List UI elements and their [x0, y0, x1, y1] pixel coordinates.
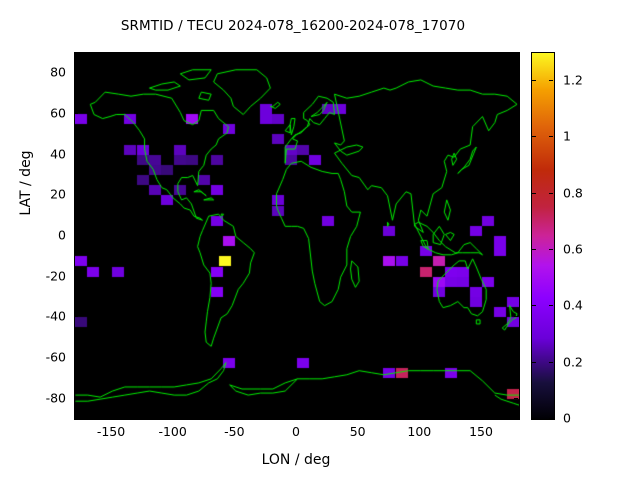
page-title: SRMTID / TECU 2024-078_16200-2024-078_17…: [0, 18, 586, 34]
y-tick-mark-right: [514, 154, 518, 155]
y-tick-mark: [74, 357, 78, 358]
x-tick-mark: [173, 414, 174, 418]
y-tick-mark: [74, 276, 78, 277]
colorbar-tick-mark-right: [549, 305, 553, 306]
x-tick-mark-top: [173, 52, 174, 56]
colorbar-tick-label: 0: [563, 411, 571, 426]
x-tick-mark-top: [111, 52, 112, 56]
colorbar-tick-mark-right: [549, 193, 553, 194]
y-tick-label: -40: [14, 309, 66, 324]
x-tick-label: 100: [407, 424, 431, 439]
y-tick-mark-right: [514, 357, 518, 358]
y-axis-label: LAT / deg: [18, 113, 34, 253]
colorbar-tick-mark: [532, 249, 536, 250]
y-tick-label: -80: [14, 390, 66, 405]
colorbar-tick-label: 0.4: [563, 298, 583, 313]
x-tick-label: -150: [97, 424, 125, 439]
x-tick-label: -100: [158, 424, 186, 439]
y-tick-mark-right: [514, 276, 518, 277]
colorbar-tick-mark-right: [549, 80, 553, 81]
map-plot-area[interactable]: [74, 52, 520, 420]
x-tick-mark-top: [358, 52, 359, 56]
x-axis-label: LON / deg: [74, 452, 518, 468]
x-tick-label: 0: [292, 424, 300, 439]
y-tick-mark-right: [514, 235, 518, 236]
x-tick-label: 150: [469, 424, 493, 439]
figure-canvas: SRMTID / TECU 2024-078_16200-2024-078_17…: [0, 0, 640, 480]
y-tick-label: -20: [14, 268, 66, 283]
y-tick-mark-right: [514, 316, 518, 317]
y-tick-mark: [74, 113, 78, 114]
x-tick-mark-top: [234, 52, 235, 56]
x-tick-mark-top: [296, 52, 297, 56]
x-tick-mark: [111, 414, 112, 418]
x-tick-label: -50: [224, 424, 244, 439]
x-tick-mark: [296, 414, 297, 418]
colorbar-tick-label: 1: [563, 129, 571, 144]
y-tick-mark-right: [514, 113, 518, 114]
colorbar-tick-label: 0.8: [563, 185, 583, 200]
y-tick-mark: [74, 154, 78, 155]
colorbar-tick-mark: [532, 418, 536, 419]
y-tick-mark-right: [514, 72, 518, 73]
colorbar-gradient: [532, 53, 554, 419]
colorbar-tick-mark: [532, 80, 536, 81]
colorbar-tick-label: 0.6: [563, 242, 583, 257]
colorbar-tick-mark: [532, 305, 536, 306]
y-tick-mark: [74, 72, 78, 73]
colorbar-tick-label: 1.2: [563, 73, 583, 88]
y-tick-label: 80: [14, 65, 66, 80]
y-tick-mark: [74, 235, 78, 236]
y-tick-mark-right: [514, 398, 518, 399]
colorbar-tick-mark-right: [549, 362, 553, 363]
colorbar-tick-label: 0.2: [563, 354, 583, 369]
colorbar-tick-mark: [532, 136, 536, 137]
y-tick-mark: [74, 398, 78, 399]
x-tick-mark: [419, 414, 420, 418]
x-tick-mark: [481, 414, 482, 418]
y-tick-mark: [74, 194, 78, 195]
y-tick-label: -60: [14, 350, 66, 365]
colorbar-tick-mark-right: [549, 249, 553, 250]
x-tick-mark-top: [481, 52, 482, 56]
colorbar-tick-mark: [532, 362, 536, 363]
x-tick-label: 50: [350, 424, 366, 439]
y-tick-mark-right: [514, 194, 518, 195]
colorbar-tick-mark-right: [549, 418, 553, 419]
colorbar-tick-mark-right: [549, 136, 553, 137]
y-tick-mark: [74, 316, 78, 317]
coastline-layer: [75, 53, 519, 419]
colorbar[interactable]: [531, 52, 555, 420]
x-tick-mark: [358, 414, 359, 418]
colorbar-tick-mark: [532, 193, 536, 194]
x-tick-mark: [234, 414, 235, 418]
x-tick-mark-top: [419, 52, 420, 56]
